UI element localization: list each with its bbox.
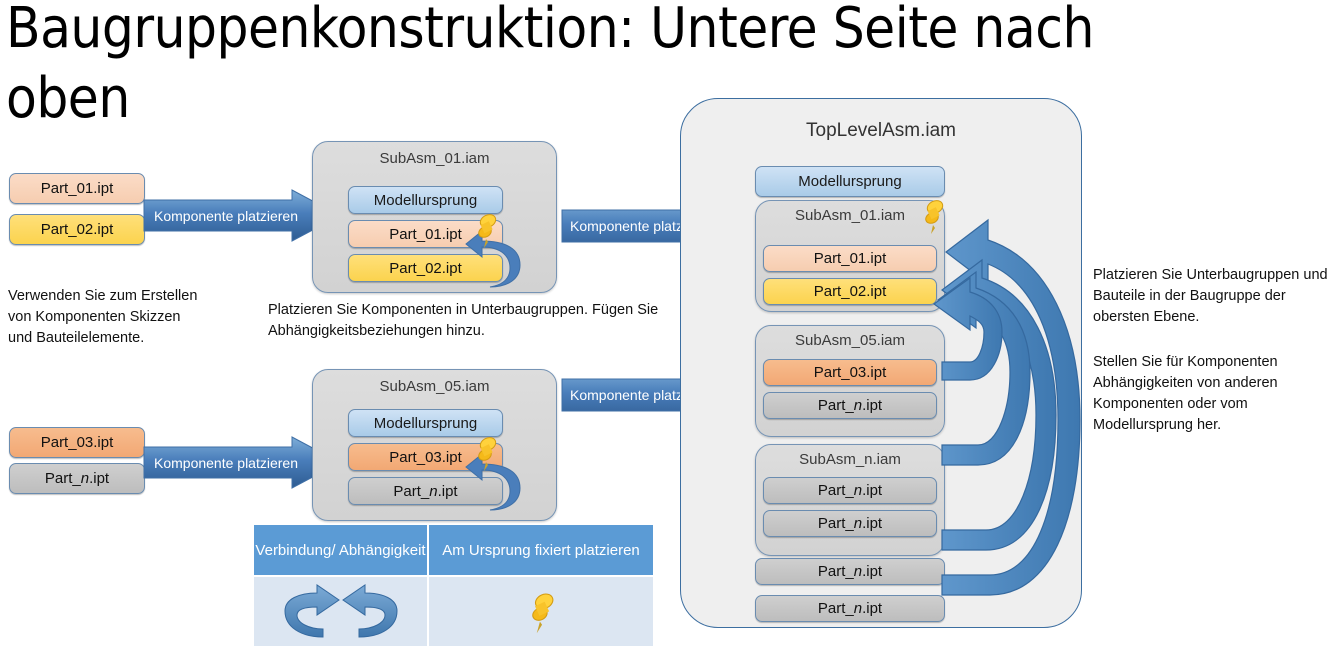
toplevel-part-part01[interactable]: Part_01.ipt <box>763 245 937 272</box>
chip-label: Modellursprung <box>374 192 477 209</box>
pushpin-icon-sub05 <box>470 434 502 472</box>
subassembly-title: SubAsm_01.iam <box>756 207 944 224</box>
subassembly-title: SubAsm_05.iam <box>756 332 944 349</box>
right-note-1: Platzieren Sie Unterbaugruppen und Baute… <box>1093 265 1328 328</box>
chip-label: Part_02.ipt <box>389 260 462 277</box>
legend-table: Verbindung/ Abhängigkeit Am Ursprung fix… <box>253 524 654 647</box>
chip-label: Part_n.ipt <box>818 397 882 414</box>
legend-header-grounded: Am Ursprung fixiert platzieren <box>428 524 654 576</box>
chip-label: Part_n.ipt <box>818 600 882 617</box>
modellursprung-chip-sub01[interactable]: Modellursprung <box>348 186 503 214</box>
subassembly-title: SubAsm_05.iam <box>313 378 556 395</box>
part-chip-part02-left[interactable]: Part_02.ipt <box>9 214 145 245</box>
legend-header-connection: Verbindung/ Abhängigkeit <box>253 524 428 576</box>
chip-label: Part_n.ipt <box>393 483 457 500</box>
toplevel-part-partn-5[interactable]: Part_n.ipt <box>755 595 945 622</box>
toplevel-part-partn-2[interactable]: Part_n.ipt <box>763 477 937 504</box>
toplevel-part-partn-4[interactable]: Part_n.ipt <box>755 558 945 585</box>
part-label: Part_02.ipt <box>41 221 114 238</box>
chip-label: Modellursprung <box>374 415 477 432</box>
right-note-2: Stellen Sie für Komponenten Abhängigkeit… <box>1093 352 1328 436</box>
legend-header-label: Verbindung/ Abhängigkeit <box>255 541 425 560</box>
chip-label: Part_01.ipt <box>814 250 887 267</box>
left-note-text: Verwenden Sie zum Erstellen von Komponen… <box>8 288 197 346</box>
subassembly-note-text: Platzieren Sie Komponenten in Unterbaugr… <box>268 302 658 339</box>
chip-label: Modellursprung <box>798 173 901 190</box>
part-label: Part_01.ipt <box>41 180 114 197</box>
toplevel-part-partn-3[interactable]: Part_n.ipt <box>763 510 937 537</box>
pushpin-icon-toplevel-sub01 <box>917 197 949 235</box>
chip-label: Part_n.ipt <box>818 563 882 580</box>
right-note-1-text: Platzieren Sie Unterbaugruppen und Baute… <box>1093 267 1328 325</box>
toplevel-part-part02[interactable]: Part_02.ipt <box>763 278 937 305</box>
chip-label: Part_n.ipt <box>818 482 882 499</box>
toplevel-part-part03[interactable]: Part_03.ipt <box>763 359 937 386</box>
subassembly-note: Platzieren Sie Komponenten in Unterbaugr… <box>268 300 688 342</box>
arrow-label: Komponente platzieren <box>154 455 298 471</box>
pushpin-icon-legend <box>524 590 558 634</box>
part-chip-part03-left[interactable]: Part_03.ipt <box>9 427 145 458</box>
right-note-2-text: Stellen Sie für Komponenten Abhängigkeit… <box>1093 354 1278 433</box>
legend-cell-grounded <box>428 576 654 647</box>
circular-arrows-icon <box>277 583 405 641</box>
subassembly-title: SubAsm_n.iam <box>756 451 944 468</box>
legend-cell-connection <box>253 576 428 647</box>
toplevel-assembly-title: TopLevelAsm.iam <box>680 120 1082 142</box>
toplevel-part-partn-1[interactable]: Part_n.ipt <box>763 392 937 419</box>
subassembly-title: SubAsm_01.iam <box>313 150 556 167</box>
chip-label: Part_01.ipt <box>389 226 462 243</box>
chip-label: Part_03.ipt <box>814 364 887 381</box>
part-chip-part01-left[interactable]: Part_01.ipt <box>9 173 145 204</box>
left-note: Verwenden Sie zum Erstellen von Komponen… <box>8 286 198 349</box>
pushpin-icon-sub01 <box>470 211 502 249</box>
part-chip-partn-left[interactable]: Part_n.ipt <box>9 463 145 494</box>
part-label: Part_03.ipt <box>41 434 114 451</box>
chip-label: Part_02.ipt <box>814 283 887 300</box>
legend-header-label: Am Ursprung fixiert platzieren <box>442 541 640 560</box>
modellursprung-chip-toplevel[interactable]: Modellursprung <box>755 166 945 197</box>
arrow-label: Komponente platzieren <box>154 208 298 224</box>
part-label: Part_n.ipt <box>45 470 109 487</box>
modellursprung-chip-sub05[interactable]: Modellursprung <box>348 409 503 437</box>
chip-label: Part_03.ipt <box>389 449 462 466</box>
chip-label: Part_n.ipt <box>818 515 882 532</box>
